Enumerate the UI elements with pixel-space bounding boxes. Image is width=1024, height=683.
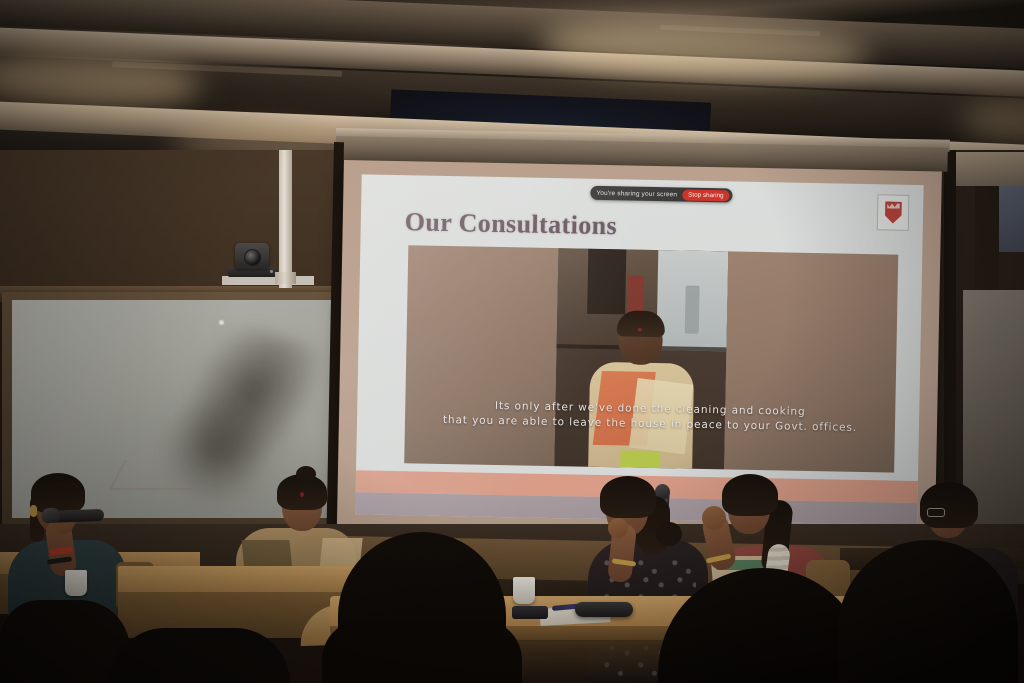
page-title: Our Consultations <box>405 207 618 241</box>
presentation-slide: Our Consultations <box>355 174 923 525</box>
pipe-collar <box>275 272 296 284</box>
person-hair <box>722 474 778 516</box>
person-hand <box>702 506 726 530</box>
person-hand <box>608 518 628 538</box>
slide-caption-block: Its only after we've done the cleaning a… <box>405 391 896 452</box>
mobile-phone-icon <box>512 606 548 619</box>
person-hair-bun <box>656 522 682 546</box>
video-object <box>685 285 700 333</box>
camera-shelf <box>222 276 314 285</box>
vertical-pipe <box>279 150 292 288</box>
video-participant-lower <box>620 450 660 469</box>
camera-led-icon <box>270 270 273 273</box>
microphone-grille-icon <box>42 508 60 523</box>
audience-silhouette-shoulders <box>322 620 522 683</box>
wall-shadow-right <box>975 186 999 290</box>
crest-shield-icon <box>884 201 901 223</box>
video-furniture <box>587 249 626 315</box>
wall-window-right <box>998 186 1024 252</box>
slide-caption: Its only after we've done the cleaning a… <box>405 397 895 436</box>
paper-cup-icon <box>65 570 87 596</box>
screen-share-message: You're sharing your screen <box>596 189 677 198</box>
microphone-icon <box>575 602 633 617</box>
person-bindi-icon <box>300 492 304 497</box>
screen-share-banner: You're sharing your screen Stop sharing <box>590 186 732 203</box>
eyeglasses-icon <box>927 508 945 517</box>
person-earring-icon <box>30 505 37 517</box>
paper-cup-icon <box>513 577 535 604</box>
stop-sharing-button[interactable]: Stop sharing <box>682 189 730 201</box>
person-hair <box>600 476 656 518</box>
wall-panel-right-top <box>955 152 1024 186</box>
institution-logo <box>877 194 910 231</box>
person-hair <box>920 482 978 528</box>
conference-room-photo: Our Consultations <box>0 0 1024 683</box>
person-hair <box>31 473 85 513</box>
audience-silhouette <box>110 628 290 683</box>
camera-lens-icon <box>244 249 261 266</box>
person-hair-bun <box>296 466 316 482</box>
